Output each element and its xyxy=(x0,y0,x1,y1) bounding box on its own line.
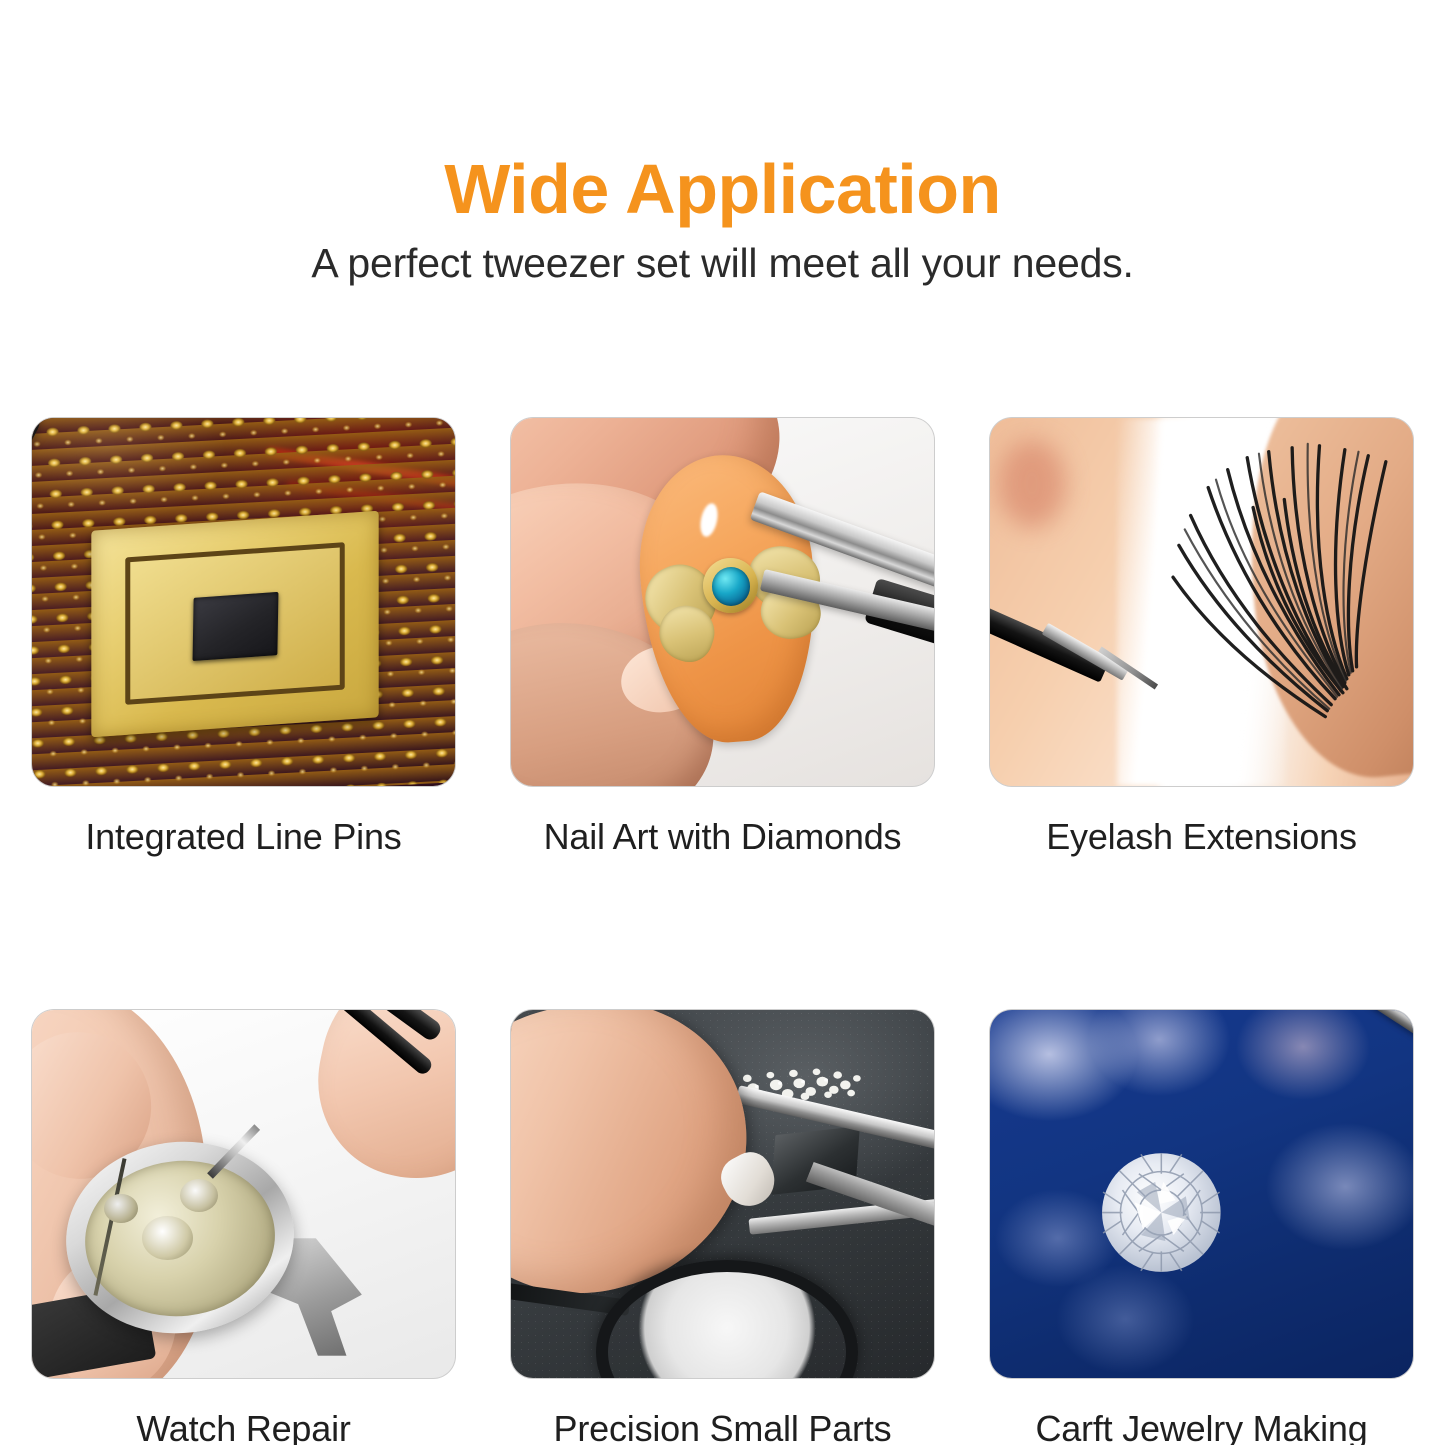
nail-art-image xyxy=(511,418,934,786)
diamond-image xyxy=(990,1010,1413,1378)
grid-item-jewelry-making: Carft Jewelry Making xyxy=(990,1010,1413,1445)
header: Wide Application A perfect tweezer set w… xyxy=(0,0,1445,287)
eyelash-image xyxy=(990,418,1413,786)
thumbnail-precision-small-parts xyxy=(511,1010,934,1378)
caption-precision-small-parts: Precision Small Parts xyxy=(511,1408,934,1445)
caption-nail-art: Nail Art with Diamonds xyxy=(511,816,934,858)
precision-parts-image xyxy=(511,1010,934,1378)
thumbnail-watch-repair xyxy=(32,1010,455,1378)
lash-hairs-icon xyxy=(1134,418,1388,734)
caption-watch-repair: Watch Repair xyxy=(32,1408,455,1445)
caption-eyelash-extensions: Eyelash Extensions xyxy=(990,816,1413,858)
diamond-icon xyxy=(1100,1150,1223,1275)
grid-item-watch-repair: Watch Repair xyxy=(32,1010,455,1445)
caption-integrated-line-pins: Integrated Line Pins xyxy=(32,816,455,858)
infographic-page: Wide Application A perfect tweezer set w… xyxy=(0,0,1445,1445)
application-grid: Integrated Line Pins xyxy=(32,418,1413,1445)
thumbnail-integrated-line-pins xyxy=(32,418,455,786)
thumbnail-nail-art xyxy=(511,418,934,786)
watch-repair-image xyxy=(32,1010,455,1378)
page-subtitle: A perfect tweezer set will meet all your… xyxy=(0,240,1445,287)
cpu-chip-image xyxy=(32,418,455,786)
grid-item-precision-small-parts: Precision Small Parts xyxy=(511,1010,934,1445)
thumbnail-jewelry-making xyxy=(990,1010,1413,1378)
grid-item-nail-art: Nail Art with Diamonds xyxy=(511,418,934,858)
grid-item-eyelash-extensions: Eyelash Extensions xyxy=(990,418,1413,858)
page-title: Wide Application xyxy=(0,152,1445,226)
grid-item-integrated-line-pins: Integrated Line Pins xyxy=(32,418,455,858)
thumbnail-eyelash-extensions xyxy=(990,418,1413,786)
caption-jewelry-making: Carft Jewelry Making xyxy=(990,1408,1413,1445)
